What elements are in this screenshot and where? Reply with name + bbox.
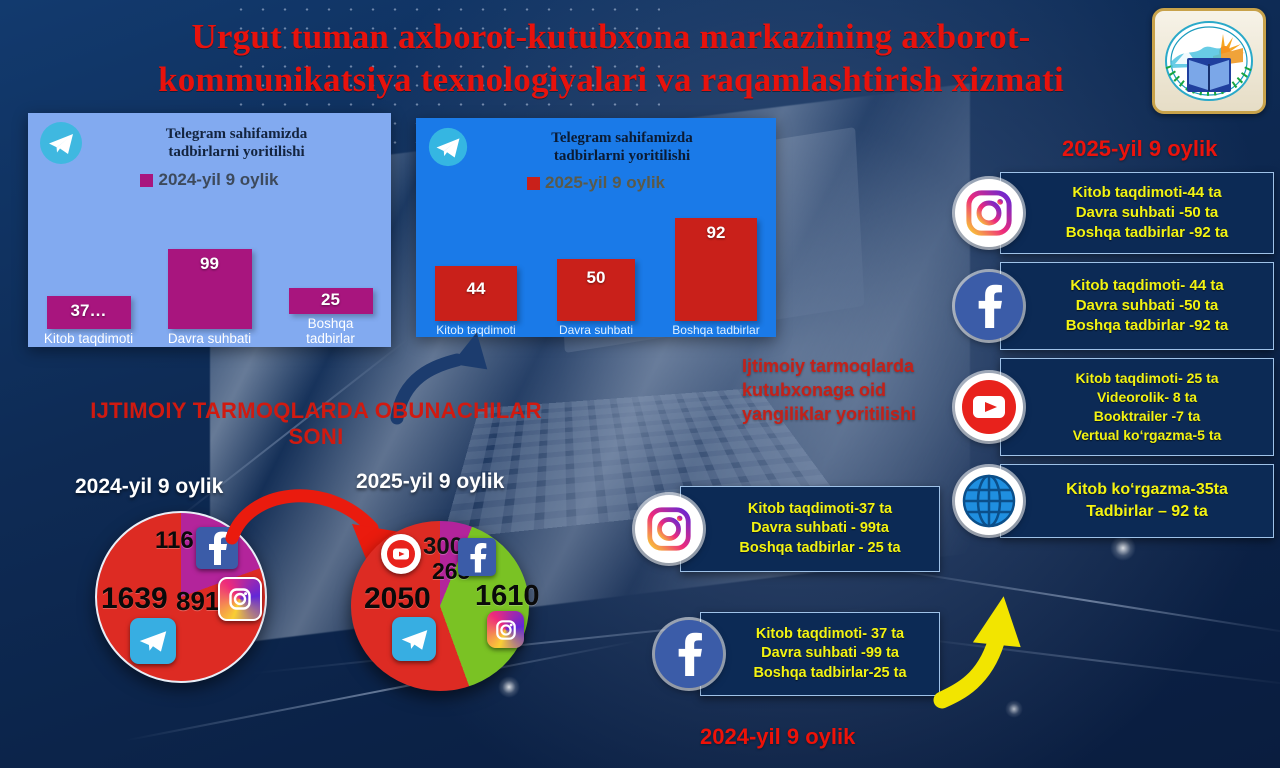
arrow-yellow-up-icon [930, 560, 1110, 720]
chart-2024-legend: 2024-yil 9 oylik [28, 170, 391, 190]
bar-value-kitob-taqdimoti: 44 [467, 279, 486, 299]
card-line1: Kitob taqdimoti- 37 ta [729, 625, 931, 645]
bar-kitob-taqdimoti: 44 [435, 266, 517, 321]
stat-card-instagram-2025[interactable]: Kitob taqdimoti-44 ta Davra suhbati -50 … [1000, 172, 1274, 254]
bar-kitob-taqdimoti: 37… [47, 296, 131, 329]
chart-2024-title-line2: tadbirlarni yoritilishi [92, 143, 381, 161]
card-line1: Kitob taqdimoti-44 ta [1029, 183, 1265, 203]
bar-label-line2: tadbirlar [306, 332, 355, 347]
bar-value-davra-suhbati: 50 [587, 268, 606, 288]
chart-2025-title-line1: Telegram sahifamizda [478, 129, 766, 147]
telegram-icon [130, 618, 176, 664]
middle-note-line3: yangiliklar yoritilishi [742, 403, 982, 427]
subscribers-heading-line1: IJTIMOIY TARMOQLARDA OBUNACHILAR [56, 398, 576, 424]
youtube-icon [381, 534, 421, 574]
bar-label-kitob-taqdimoti: Kitob taqdimoti [44, 332, 133, 347]
chart-2025-legend: 2025-yil 9 oylik [416, 173, 776, 193]
stat-card-instagram-2024[interactable]: Kitob taqdimoti-37 ta Davra suhbati - 99… [680, 486, 940, 572]
card-line2: Davra suhbati -50 ta [1029, 203, 1265, 223]
legend-label-2025: 2025-yil 9 oylik [545, 173, 665, 193]
chart-2024-title-line1: Telegram sahifamizda [92, 125, 381, 143]
telegram-icon [392, 617, 436, 661]
pie-2024-value-instagram: 891 [176, 586, 219, 617]
card-line1: Kitob taqdimoti-37 ta [709, 500, 931, 520]
bar-label-line1: Boshqa tadbirlar [672, 324, 759, 337]
legend-swatch-2024 [140, 174, 153, 187]
youtube-icon [955, 373, 1023, 441]
facebook-icon [655, 620, 723, 688]
year-label-2025: 2025-yil 9 oylik [1062, 136, 1217, 162]
bar-label-boshqa-tadbirlar: Boshqa tadbirlar [306, 317, 355, 347]
bar-davra-suhbati: 50 [557, 259, 635, 321]
card-line3: Booktrailer -7 ta [1029, 407, 1265, 426]
middle-note-line2: kutubxonaga oid [742, 379, 982, 403]
bar-boshqa-tadbirlar: 92 [675, 218, 757, 321]
card-line3: Boshqa tadbirlar -92 ta [1029, 223, 1265, 243]
chart-panel-telegram-2025: Telegram sahifamizda tadbirlarni yoritil… [416, 118, 776, 337]
stat-card-facebook-2025[interactable]: Kitob taqdimoti- 44 ta Davra suhbati -50… [1000, 262, 1274, 350]
card-line1: Kitob ko‘rgazma-35ta [1029, 479, 1265, 501]
bar-label-line1: Davra suhbati [559, 324, 633, 337]
bar-value-kitob-taqdimoti: 37… [71, 301, 107, 321]
bar-column-kitob-taqdimoti: 37… Kitob taqdimoti [28, 215, 149, 347]
organization-logo [1152, 8, 1266, 114]
stat-card-facebook-2025-text: Kitob taqdimoti- 44 ta Davra suhbati -50… [1001, 269, 1273, 344]
background-bokeh [1110, 535, 1136, 561]
pie-2025-value-telegram: 2050 [364, 582, 431, 616]
legend-label-2024: 2024-yil 9 oylik [158, 170, 278, 190]
globe-icon [955, 467, 1023, 535]
pie-label-2024: 2024-yil 9 oylik [75, 475, 223, 499]
bar-column-davra-suhbati: 50 Davra suhbati [536, 217, 656, 337]
facebook-icon [955, 272, 1023, 340]
urgut-library-emblem-icon [1163, 18, 1255, 104]
card-line4: Vertual ko‘rgazma-5 ta [1029, 426, 1265, 445]
infographic-canvas: Urgut tuman axborot-kutubxona markazinin… [0, 0, 1280, 768]
stat-card-facebook-2024-text: Kitob taqdimoti- 37 ta Davra suhbati -99… [701, 618, 939, 691]
bar-label-line1: Kitob taqdimoti [44, 332, 133, 347]
middle-note: Ijtimoiy tarmoqlarda kutubxonaga oid yan… [742, 355, 982, 427]
legend-swatch-2025 [527, 177, 540, 190]
bar-value-boshqa-tadbirlar: 25 [321, 290, 340, 310]
facebook-icon [458, 538, 496, 576]
card-line2: Videorolik- 8 ta [1029, 388, 1265, 407]
chart-2024-bars: 37… Kitob taqdimoti 99 Davra suhbati 25 [28, 215, 391, 347]
pie-2024-value-facebook: 116 [155, 527, 194, 555]
bar-column-davra-suhbati: 99 Davra suhbati [149, 215, 270, 347]
instagram-icon [487, 611, 524, 648]
stat-card-instagram-2024-text: Kitob taqdimoti-37 ta Davra suhbati - 99… [681, 493, 939, 566]
chart-2024-title: Telegram sahifamizda tadbirlarni yoritil… [92, 125, 381, 162]
bar-column-boshqa-tadbirlar: 25 Boshqa tadbirlar [270, 215, 391, 347]
page-title: Urgut tuman axborot-kutubxona markazinin… [96, 16, 1126, 101]
card-line2: Davra suhbati -50 ta [1029, 296, 1265, 316]
year-label-2024: 2024-yil 9 oylik [700, 724, 855, 750]
subscribers-heading-line2: SONI [56, 424, 576, 450]
stat-card-youtube-2025-text: Kitob taqdimoti- 25 ta Videorolik- 8 ta … [1001, 362, 1273, 452]
middle-note-line1: Ijtimoiy tarmoqlarda [742, 355, 982, 379]
card-line2: Tadbirlar – 92 ta [1029, 501, 1265, 523]
card-line3: Boshqa tadbirlar-25 ta [729, 664, 931, 684]
stat-card-youtube-2025[interactable]: Kitob taqdimoti- 25 ta Videorolik- 8 ta … [1000, 358, 1274, 456]
bar-davra-suhbati: 99 [168, 249, 252, 329]
card-line1: Kitob taqdimoti- 25 ta [1029, 369, 1265, 388]
bar-column-boshqa-tadbirlar: 92 Boshqa tadbirlar [656, 217, 776, 337]
bar-label-boshqa-tadbirlar: Boshqa tadbirlar [672, 324, 759, 337]
telegram-icon [38, 120, 84, 166]
bar-label-davra-suhbati: Davra suhbati [168, 332, 251, 347]
bar-label-line1: Boshqa [306, 317, 355, 332]
stat-card-website-2025[interactable]: Kitob ko‘rgazma-35ta Tadbirlar – 92 ta [1000, 464, 1274, 538]
pie-2025-value-instagram: 1610 [475, 580, 540, 613]
bar-value-boshqa-tadbirlar: 92 [707, 223, 726, 243]
bar-value-davra-suhbati: 99 [200, 254, 219, 274]
chart-2025-title: Telegram sahifamizda tadbirlarni yoritil… [478, 129, 766, 166]
subscribers-section-heading: IJTIMOIY TARMOQLARDA OBUNACHILAR SONI [56, 398, 576, 450]
card-line2: Davra suhbati - 99ta [709, 519, 931, 539]
telegram-icon [426, 125, 470, 169]
bar-label-davra-suhbati: Davra suhbati [559, 324, 633, 337]
chart-panel-telegram-2024: Telegram sahifamizda tadbirlarni yoritil… [28, 113, 391, 347]
pie-2024-value-telegram: 1639 [101, 582, 168, 616]
stat-card-instagram-2025-text: Kitob taqdimoti-44 ta Davra suhbati -50 … [1001, 176, 1273, 251]
card-line2: Davra suhbati -99 ta [729, 644, 931, 664]
chart-2025-title-line2: tadbirlarni yoritilishi [478, 147, 766, 165]
stat-card-website-2025-text: Kitob ko‘rgazma-35ta Tadbirlar – 92 ta [1001, 472, 1273, 529]
card-line1: Kitob taqdimoti- 44 ta [1029, 276, 1265, 296]
instagram-icon [635, 495, 703, 563]
card-line3: Boshqa tadbirlar -92 ta [1029, 316, 1265, 336]
chart-2024-header: Telegram sahifamizda tadbirlarni yoritil… [28, 113, 391, 166]
stat-card-facebook-2024[interactable]: Kitob taqdimoti- 37 ta Davra suhbati -99… [700, 612, 940, 696]
chart-2025-header: Telegram sahifamizda tadbirlarni yoritil… [416, 118, 776, 169]
bar-label-line1: Davra suhbati [168, 332, 251, 347]
background-bokeh [498, 676, 520, 698]
card-line3: Boshqa tadbirlar - 25 ta [709, 539, 931, 559]
bar-boshqa-tadbirlar: 25 [289, 288, 373, 314]
instagram-icon [955, 179, 1023, 247]
